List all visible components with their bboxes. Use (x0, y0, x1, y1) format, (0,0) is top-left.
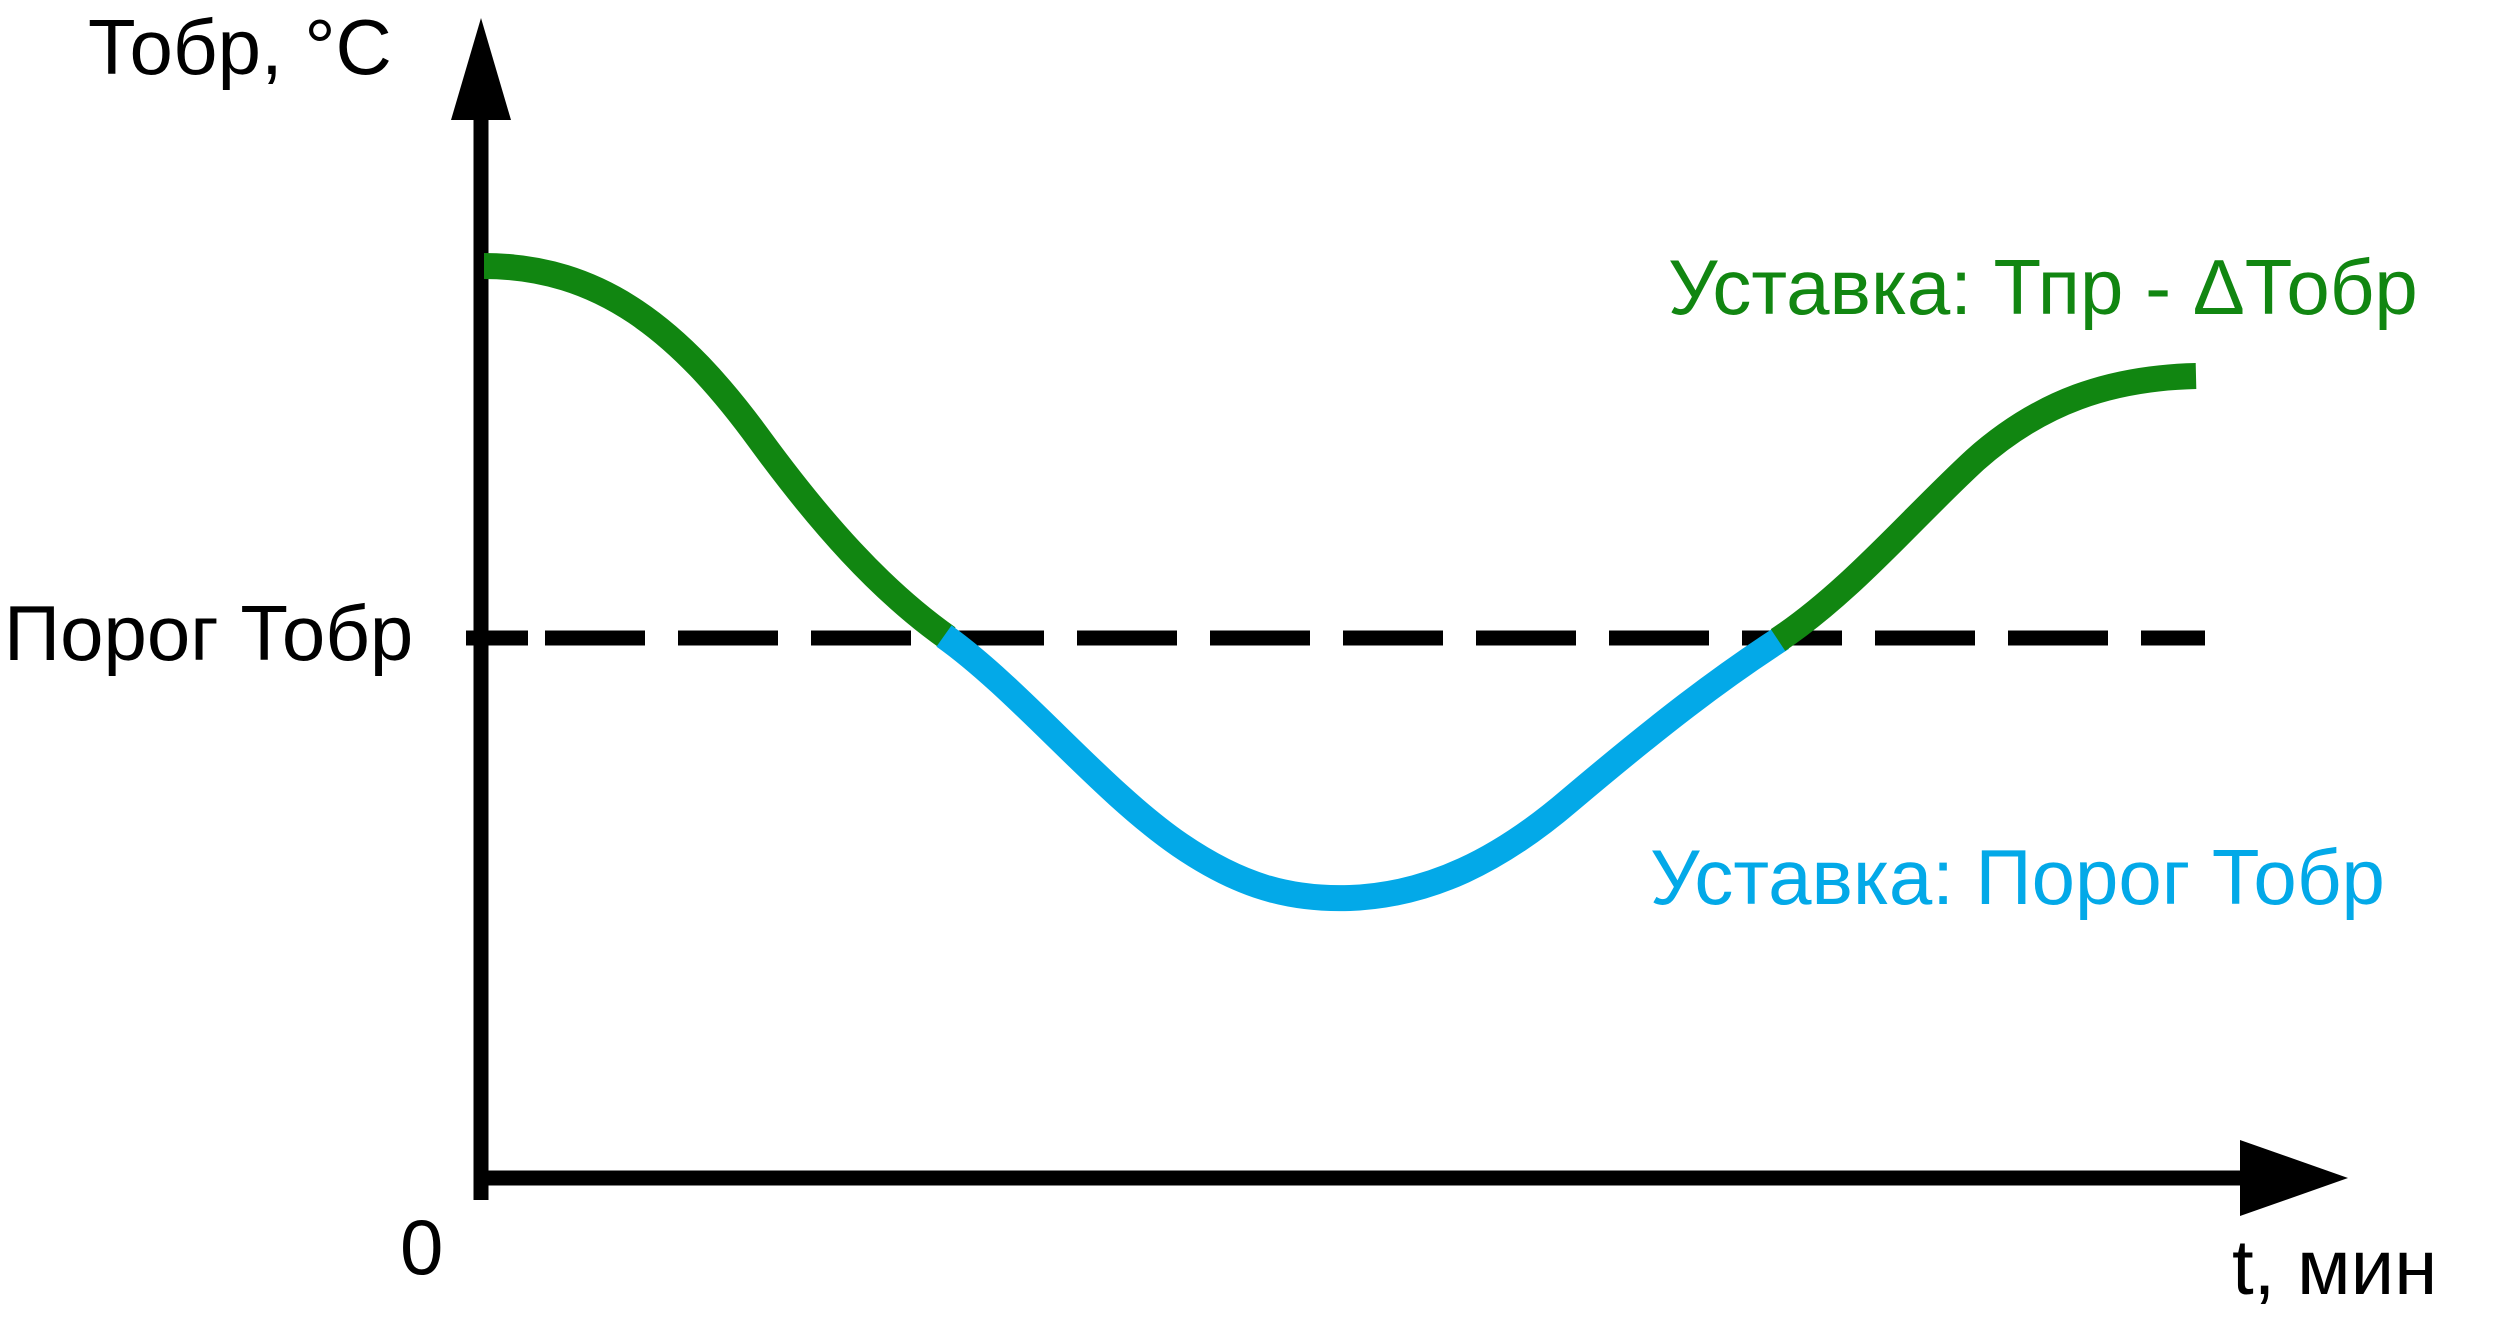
series-green-descending (484, 266, 948, 638)
legend-item-blue: Уставка: Порог Тобр (1650, 838, 2385, 916)
series-green-ascending (1778, 376, 2196, 640)
legend-item-green: Уставка: Тпр - ΔТобр (1668, 248, 2418, 326)
chart-canvas: Тобр, °C t, мин 0 Порог Тобр Уставка: Тп… (0, 0, 2511, 1326)
threshold-label: Порог Тобр (4, 594, 413, 672)
y-axis-arrowhead (451, 18, 511, 120)
x-axis-label: t, мин (2232, 1228, 2437, 1306)
origin-label: 0 (400, 1208, 443, 1286)
x-axis-arrowhead (2240, 1140, 2348, 1216)
y-axis-label: Тобр, °C (88, 8, 392, 86)
